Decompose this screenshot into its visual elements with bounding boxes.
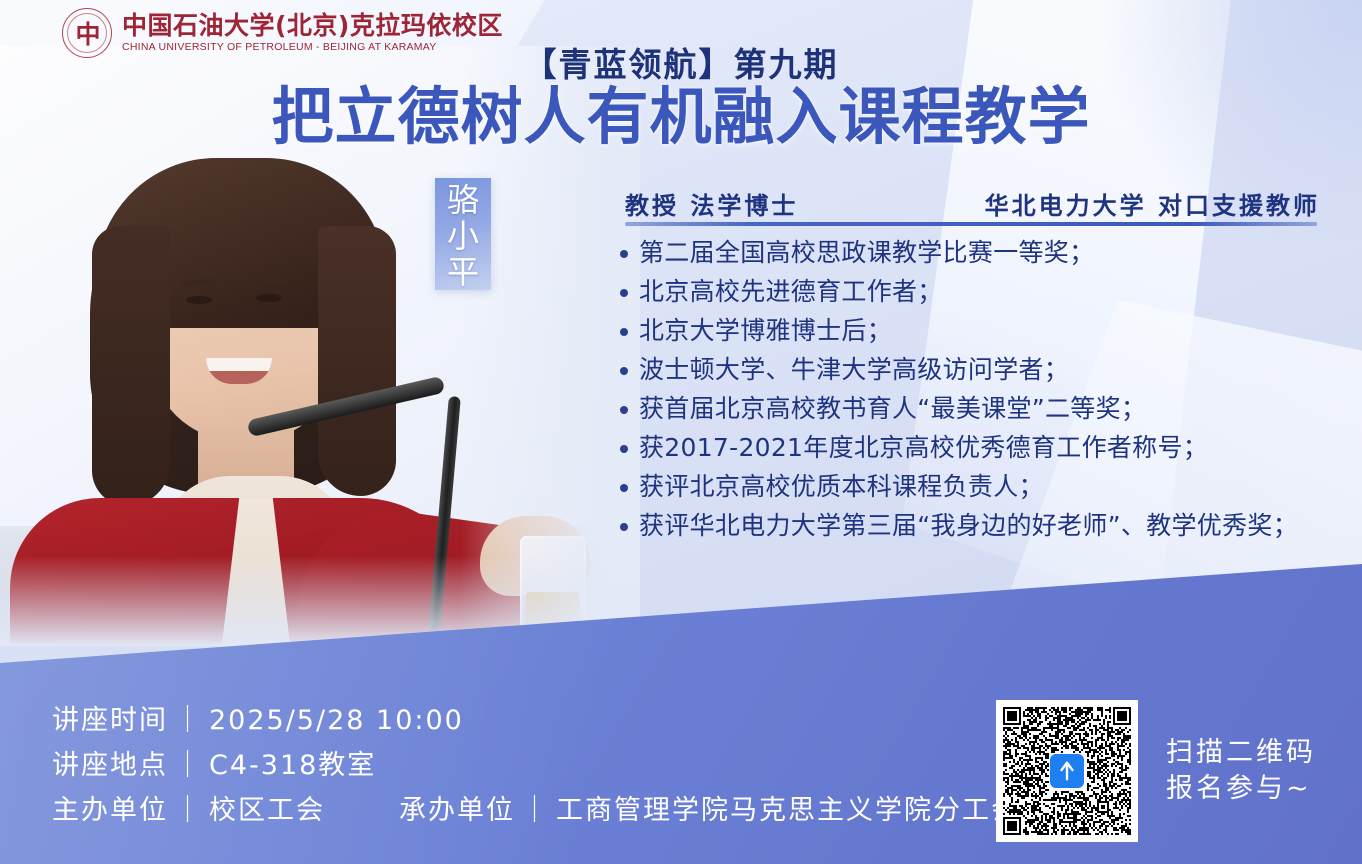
bullet-dot-icon <box>620 289 628 297</box>
credential-title: 教授 法学博士 <box>625 186 798 221</box>
qr-code[interactable] <box>996 700 1138 842</box>
list-item: 获首届北京高校教书育人“最美课堂”二等奖； <box>620 396 1340 421</box>
list-item: 波士顿大学、牛津大学高级访问学者； <box>620 357 1340 382</box>
achievement-text: 第二届全国高校思政课教学比赛一等奖； <box>639 240 1094 265</box>
lecture-poster: 中 中国石油大学(北京)克拉玛依校区 CHINA UNIVERSITY OF P… <box>0 0 1362 864</box>
credential-affiliation: 华北电力大学 对口支援教师 <box>985 186 1320 221</box>
detail-separator: ｜ <box>168 795 209 826</box>
detail-host-label: 主办单位 <box>52 795 168 826</box>
speaker-name-char-2: 小 <box>447 220 479 254</box>
bullet-dot-icon <box>620 523 628 531</box>
speaker-name-badge: 骆 小 平 <box>435 178 491 290</box>
achievement-text: 北京高校先进德育工作者； <box>639 279 943 304</box>
list-item: 获2017-2021年度北京高校优秀德育工作者称号； <box>620 435 1340 460</box>
achievement-text: 获首届北京高校教书育人“最美课堂”二等奖； <box>639 396 1146 421</box>
series-kicker: 【青蓝领航】第九期 <box>0 38 1362 86</box>
detail-separator: ｜ <box>515 795 556 826</box>
detail-time-label: 讲座时间 <box>52 705 168 736</box>
detail-place-value: C4-318教室 <box>209 750 376 781</box>
achievement-text: 获2017-2021年度北京高校优秀德育工作者称号； <box>639 435 1208 460</box>
event-details: 讲座时间｜2025/5/28 10:00 讲座地点｜C4-318教室 主办单位｜… <box>52 707 972 824</box>
arrow-up-icon <box>1050 754 1084 788</box>
list-item: 北京高校先进德育工作者； <box>620 279 1340 304</box>
detail-time-value: 2025/5/28 10:00 <box>209 705 464 736</box>
photo-eye-left <box>186 296 212 304</box>
university-name-cn: 中国石油大学(北京)克拉玛依校区 <box>122 13 503 38</box>
bullet-dot-icon <box>620 445 628 453</box>
detail-place: 讲座地点｜C4-318教室 <box>52 752 972 779</box>
photo-hair-left <box>92 226 170 506</box>
detail-organizer-value: 工商管理学院马克思主义学院分工会 <box>556 795 1020 826</box>
achievement-text: 波士顿大学、牛津大学高级访问学者； <box>639 357 1069 382</box>
qr-caption-line-1: 扫描二维码 <box>1166 735 1316 771</box>
achievement-text: 北京大学博雅博士后； <box>639 318 892 343</box>
list-item: 获评华北电力大学第三届“我身边的好老师”、教学优秀奖； <box>620 513 1340 538</box>
qr-caption: 扫描二维码 报名参与~ <box>1166 735 1316 806</box>
detail-separator: ｜ <box>168 750 209 781</box>
achievement-list: 第二届全国高校思政课教学比赛一等奖； 北京高校先进德育工作者； 北京大学博雅博士… <box>620 240 1340 552</box>
speaker-name-char-3: 平 <box>447 256 479 290</box>
bullet-dot-icon <box>620 406 628 414</box>
credential-divider <box>625 222 1317 226</box>
detail-organizations: 主办单位｜校区工会 承办单位｜工商管理学院马克思主义学院分工会 <box>52 797 972 824</box>
qr-caption-line-2: 报名参与~ <box>1166 771 1316 807</box>
detail-time: 讲座时间｜2025/5/28 10:00 <box>52 707 972 734</box>
list-item: 获评北京高校优质本科课程负责人； <box>620 474 1340 499</box>
achievement-text: 获评北京高校优质本科课程负责人； <box>639 474 1044 499</box>
detail-organizer-label: 承办单位 <box>399 795 515 826</box>
qr-block: 扫描二维码 报名参与~ <box>996 700 1316 842</box>
detail-host: 主办单位｜校区工会 <box>52 797 325 824</box>
detail-organizer: 承办单位｜工商管理学院马克思主义学院分工会 <box>399 797 1020 824</box>
photo-teeth <box>206 358 272 371</box>
photo-eye-right <box>256 294 282 302</box>
page-title: 把立德树人有机融入课程教学 <box>0 84 1362 149</box>
detail-host-value: 校区工会 <box>209 795 325 826</box>
speaker-name-char-1: 骆 <box>447 184 479 218</box>
bullet-dot-icon <box>620 484 628 492</box>
bullet-dot-icon <box>620 367 628 375</box>
list-item: 北京大学博雅博士后； <box>620 318 1340 343</box>
detail-separator: ｜ <box>168 705 209 736</box>
list-item: 第二届全国高校思政课教学比赛一等奖； <box>620 240 1340 265</box>
bullet-dot-icon <box>620 328 628 336</box>
bullet-dot-icon <box>620 250 628 258</box>
speaker-credentials: 教授 法学博士 华北电力大学 对口支援教师 <box>625 186 1320 221</box>
photo-hair-right <box>318 226 396 496</box>
achievement-text: 获评华北电力大学第三届“我身边的好老师”、教学优秀奖； <box>639 513 1298 538</box>
detail-place-label: 讲座地点 <box>52 750 168 781</box>
